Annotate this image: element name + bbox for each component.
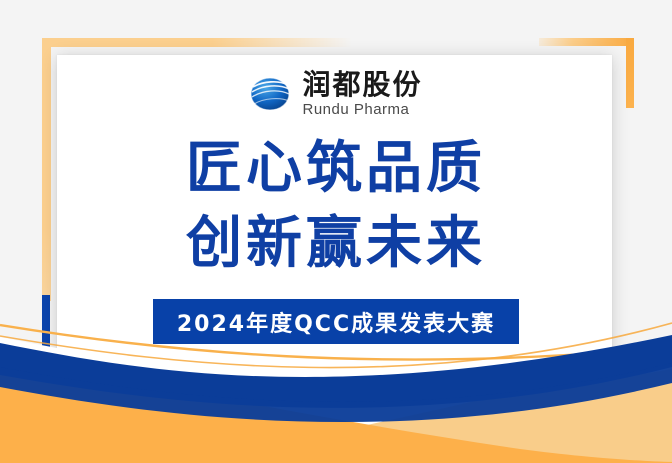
brand-logo: 润都股份 Rundu Pharma bbox=[0, 71, 672, 117]
brand-name-chinese: 润都股份 bbox=[302, 71, 422, 99]
corner-bracket-top-left-horizontal-icon bbox=[42, 38, 352, 47]
wave-ribbon-icon bbox=[0, 263, 672, 463]
headline-line-2: 创新赢未来 bbox=[0, 216, 672, 272]
subtitle-banner: 2024年度QCC成果发表大赛 bbox=[153, 299, 519, 344]
globe-logo-icon bbox=[249, 74, 293, 114]
brand-name-english: Rundu Pharma bbox=[302, 102, 409, 117]
brand-logo-text: 润都股份 Rundu Pharma bbox=[302, 71, 422, 117]
headline-line-1: 匠心筑品质 bbox=[0, 141, 672, 197]
qcc-competition-poster: 润都股份 Rundu Pharma 匠心筑品质 创新赢未来 2024年度QCC成… bbox=[0, 0, 672, 463]
subtitle-text: 2024年度QCC成果发表大赛 bbox=[177, 306, 495, 338]
corner-bracket-top-right-horizontal-icon bbox=[539, 38, 634, 46]
